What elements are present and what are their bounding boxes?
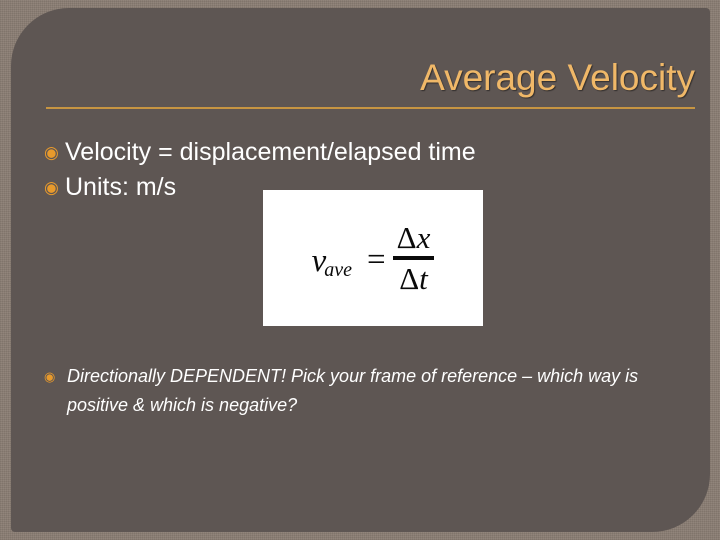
equation-image: v ave = Δx Δt — [263, 190, 483, 326]
equation-expression: v ave = Δx Δt — [312, 221, 435, 296]
equation-fraction-bar — [393, 256, 435, 260]
bullet-target-icon: ◉ — [44, 171, 65, 204]
equation-fraction: Δx Δt — [393, 221, 435, 296]
equation-lhs-subscript: ave — [324, 260, 352, 280]
bullet-list-bottom: ◉ Directionally DEPENDENT! Pick your fra… — [44, 362, 684, 420]
equation-denominator-variable: t — [419, 261, 428, 296]
delta-symbol-icon: Δ — [397, 220, 417, 255]
list-item-label: Velocity = displacement/elapsed time — [65, 136, 476, 169]
equation-operator: = — [367, 244, 386, 277]
page-title: Average Velocity — [46, 56, 695, 100]
list-item-label: Directionally DEPENDENT! Pick your frame… — [67, 362, 684, 420]
equation-numerator: Δx — [393, 221, 435, 254]
list-item: ◉ Velocity = displacement/elapsed time — [44, 136, 684, 171]
equation-content: v ave = Δx Δt — [263, 190, 483, 326]
title-underline-rule — [46, 107, 695, 109]
list-item: ◉ Directionally DEPENDENT! Pick your fra… — [44, 362, 684, 420]
bullet-target-icon: ◉ — [44, 136, 65, 169]
equation-denominator: Δt — [395, 262, 432, 295]
delta-symbol-icon: Δ — [399, 261, 419, 296]
list-item-label: Units: m/s — [65, 171, 176, 204]
equation-numerator-variable: x — [417, 220, 431, 255]
slide-canvas: Average Velocity ◉ Velocity = displaceme… — [0, 0, 720, 540]
bullet-target-icon: ◉ — [44, 362, 67, 391]
